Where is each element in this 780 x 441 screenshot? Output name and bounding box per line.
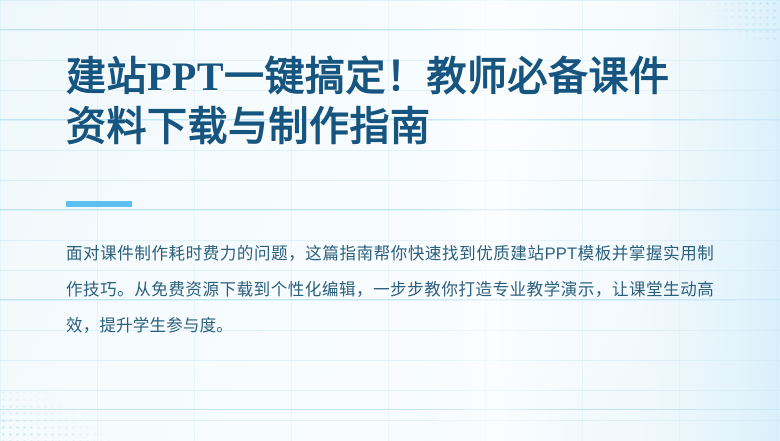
presentation-slide: 建站PPT一键搞定！教师必备课件 资料下载与制作指南 面对课件制作耗时费力的问题… bbox=[0, 0, 780, 441]
slide-body-paragraph: 面对课件制作耗时费力的问题，这篇指南帮你快速找到优质建站PPT模板并掌握实用制作… bbox=[66, 236, 714, 344]
title-accent-divider bbox=[66, 201, 132, 207]
slide-content: 建站PPT一键搞定！教师必备课件 资料下载与制作指南 面对课件制作耗时费力的问题… bbox=[66, 0, 726, 441]
slide-title: 建站PPT一键搞定！教师必备课件 资料下载与制作指南 bbox=[66, 52, 714, 152]
